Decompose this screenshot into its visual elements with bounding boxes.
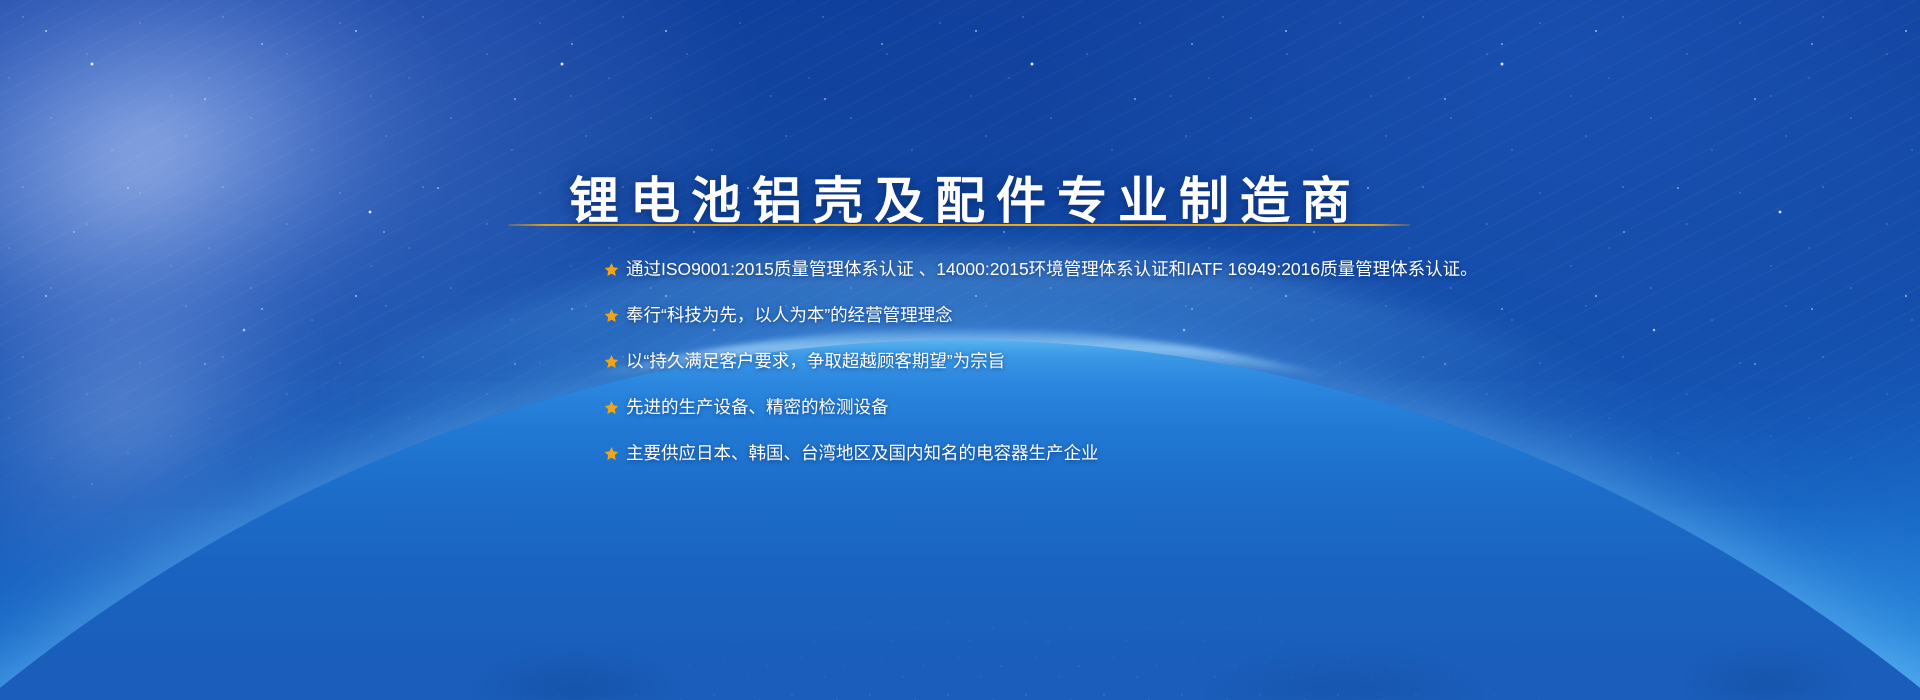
title-divider (508, 224, 1410, 226)
star-icon (604, 308, 619, 323)
list-item-label: 主要供应日本、韩国、台湾地区及国内知名的电容器生产企业 (626, 441, 1099, 466)
banner-content: 锂电池铝壳及配件专业制造商 通过ISO9001:2015质量管理体系认证 、14… (0, 0, 1920, 700)
list-item-label: 通过ISO9001:2015质量管理体系认证 、14000:2015环境管理体系… (626, 257, 1478, 282)
feature-list: 通过ISO9001:2015质量管理体系认证 、14000:2015环境管理体系… (604, 246, 1604, 476)
hero-banner: 锂电池铝壳及配件专业制造商 通过ISO9001:2015质量管理体系认证 、14… (0, 0, 1920, 700)
star-icon (604, 262, 619, 277)
list-item: 先进的生产设备、精密的检测设备 (604, 384, 1604, 430)
list-item: 以“持久满足客户要求，争取超越顾客期望”为宗旨 (604, 338, 1604, 384)
star-icon (604, 400, 619, 415)
list-item: 主要供应日本、韩国、台湾地区及国内知名的电容器生产企业 (604, 430, 1604, 476)
list-item: 奉行“科技为先，以人为本”的经营管理理念 (604, 292, 1604, 338)
list-item-label: 奉行“科技为先，以人为本”的经营管理理念 (626, 303, 953, 328)
list-item: 通过ISO9001:2015质量管理体系认证 、14000:2015环境管理体系… (604, 246, 1604, 292)
page-title: 锂电池铝壳及配件专业制造商 (0, 174, 1920, 228)
list-item-label: 先进的生产设备、精密的检测设备 (626, 395, 889, 420)
list-item-label: 以“持久满足客户要求，争取超越顾客期望”为宗旨 (626, 349, 1005, 374)
star-icon (604, 354, 619, 369)
star-icon (604, 446, 619, 461)
